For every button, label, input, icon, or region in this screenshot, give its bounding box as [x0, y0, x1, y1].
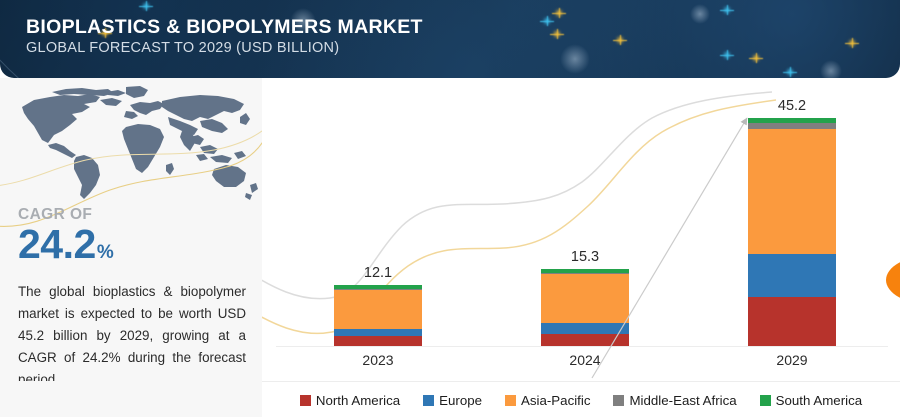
legend-label: South America: [776, 393, 862, 408]
header-arc-decoration: [507, 0, 900, 78]
bar-value-label-2023: 12.1: [318, 265, 438, 281]
bar-segment-north-america: [541, 334, 629, 346]
cagr-block: CAGR OF 24.2%: [18, 206, 113, 265]
sidebar-description: The global bioplastics & biopolymer mark…: [18, 281, 246, 392]
header-text-block: BIOPLASTICS & BIOPOLYMERS MARKET GLOBAL …: [26, 16, 423, 57]
legend-item-europe[interactable]: Europe: [423, 393, 482, 408]
legend-item-asia-pacific[interactable]: Asia-Pacific: [505, 393, 590, 408]
chart-legend: North America Europe Asia-Pacific Middle…: [262, 381, 900, 418]
bar-segment-europe: [334, 329, 422, 337]
header-bokeh: [820, 60, 842, 78]
bar-segment-asia-pacific: [748, 129, 836, 254]
legend-label: Asia-Pacific: [521, 393, 590, 408]
header-bokeh: [690, 4, 710, 24]
legend-swatch-icon: [613, 395, 624, 406]
bar-value-label-2029: 45.2: [732, 98, 852, 114]
x-axis-label-2024: 2024: [525, 352, 645, 368]
header-bokeh: [560, 44, 590, 74]
legend-swatch-icon: [300, 395, 311, 406]
legend-label: Middle-East Africa: [629, 393, 736, 408]
bar-2024[interactable]: [541, 269, 629, 346]
legend-swatch-icon: [760, 395, 771, 406]
world-map-icon: [4, 83, 262, 205]
legend-item-north-america[interactable]: North America: [300, 393, 400, 408]
legend-item-middle-east-africa[interactable]: Middle-East Africa: [613, 393, 736, 408]
cagr-number: 24.2: [18, 224, 96, 265]
bar-2023[interactable]: [334, 285, 422, 346]
x-axis-label-2023: 2023: [318, 352, 438, 368]
bar-value-label-2024: 15.3: [525, 249, 645, 265]
bar-segment-asia-pacific: [541, 274, 629, 323]
bar-segment-north-america: [334, 336, 422, 346]
legend-swatch-icon: [423, 395, 434, 406]
x-axis-line: [276, 346, 888, 347]
sidebar-bottom-strip: [0, 381, 263, 417]
plot-area: 12.1 2023 15.3 2024 45.2 2029: [262, 78, 900, 381]
bar-segment-asia-pacific: [334, 290, 422, 329]
sidebar-panel: CAGR OF 24.2% The global bioplastics & b…: [0, 78, 263, 417]
description-text: The global bioplastics & biopolymer mark…: [18, 284, 246, 387]
bar-segment-north-america: [748, 297, 836, 346]
bar-segment-europe: [541, 323, 629, 334]
legend-label: North America: [316, 393, 400, 408]
bar-2029[interactable]: [748, 118, 836, 346]
page-title: BIOPLASTICS & BIOPOLYMERS MARKET: [26, 16, 423, 38]
legend-item-south-america[interactable]: South America: [760, 393, 862, 408]
x-axis-label-2029: 2029: [732, 352, 852, 368]
chart-panel: 12.1 2023 15.3 2024 45.2 2029: [262, 78, 900, 381]
cagr-value: 24.2%: [18, 224, 113, 265]
legend-label: Europe: [439, 393, 482, 408]
page-subtitle: GLOBAL FORECAST TO 2029 (USD BILLION): [26, 40, 423, 57]
infographic-root: BIOPLASTICS & BIOPOLYMERS MARKET GLOBAL …: [0, 0, 900, 417]
legend-swatch-icon: [505, 395, 516, 406]
cagr-percent-sign: %: [97, 243, 113, 262]
bar-segment-europe: [748, 254, 836, 297]
header-banner: BIOPLASTICS & BIOPOLYMERS MARKET GLOBAL …: [0, 0, 900, 78]
